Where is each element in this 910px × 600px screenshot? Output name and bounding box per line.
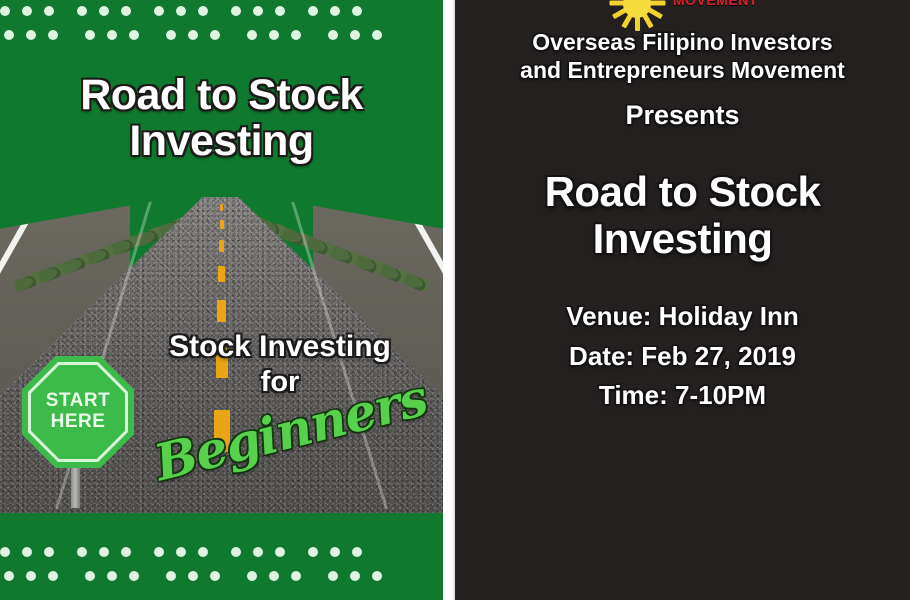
dot-group	[166, 30, 232, 40]
dot	[26, 571, 36, 581]
dot	[22, 547, 32, 557]
left-panel-title: Road to Stock Investing	[0, 72, 443, 165]
logo-wordmark: MOVEMENT	[673, 0, 758, 8]
dot	[48, 571, 58, 581]
event-title: Road to Stock Investing	[463, 168, 902, 262]
dot	[275, 6, 285, 16]
dot-group	[231, 547, 297, 557]
dot	[4, 30, 14, 40]
dot-group	[77, 6, 143, 16]
dot	[291, 30, 301, 40]
event-time: Time: 7-10PM	[463, 376, 902, 416]
dot-row	[0, 545, 443, 559]
dot	[188, 30, 198, 40]
dot	[350, 571, 360, 581]
dot	[99, 547, 109, 557]
center-dash	[217, 300, 226, 322]
dot	[198, 547, 208, 557]
philippine-sun-icon	[607, 0, 667, 24]
dot-group	[231, 6, 297, 16]
center-dash	[218, 266, 225, 282]
dot	[176, 6, 186, 16]
dot-group	[154, 547, 220, 557]
dot-decor-top	[0, 2, 443, 48]
organization-name: Overseas Filipino Investors and Entrepre…	[463, 28, 902, 84]
dot	[275, 547, 285, 557]
dot	[253, 547, 263, 557]
dot	[0, 6, 10, 16]
road-overlay-line-1: Stock Investing	[120, 332, 440, 362]
dot	[231, 547, 241, 557]
dot-group	[328, 30, 394, 40]
org-name-line-2: and Entrepreneurs Movement	[463, 56, 902, 84]
dot	[99, 6, 109, 16]
dot-group	[77, 547, 143, 557]
sign-text-line-2: HERE	[51, 412, 106, 433]
dot	[210, 30, 220, 40]
dot-group	[4, 571, 70, 581]
event-title-line-2: Investing	[463, 215, 902, 262]
dot-group	[154, 6, 220, 16]
dot	[188, 571, 198, 581]
org-name-line-1: Overseas Filipino Investors	[463, 28, 902, 56]
dot-group	[308, 547, 374, 557]
left-title-line-1: Road to Stock	[0, 72, 443, 118]
event-details: Venue: Holiday Inn Date: Feb 27, 2019 Ti…	[463, 297, 902, 416]
sign-text-line-1: START	[46, 391, 110, 412]
dot	[107, 571, 117, 581]
dot	[48, 30, 58, 40]
dot-group	[308, 6, 374, 16]
dot-group	[247, 571, 313, 581]
center-dash	[220, 220, 224, 229]
dot	[22, 6, 32, 16]
dot	[269, 571, 279, 581]
dot	[328, 30, 338, 40]
dot	[77, 6, 87, 16]
dot	[308, 547, 318, 557]
event-title-line-1: Road to Stock	[463, 168, 902, 215]
dot	[85, 30, 95, 40]
dot-row	[0, 569, 443, 583]
dot-group	[328, 571, 394, 581]
dot	[247, 571, 257, 581]
center-dash	[219, 240, 224, 252]
dot	[330, 6, 340, 16]
dot	[121, 547, 131, 557]
start-here-sign: START HERE	[22, 356, 134, 508]
panel-divider	[443, 0, 455, 600]
dot	[0, 547, 10, 557]
organization-logo: MOVEMENT	[455, 0, 910, 24]
dot	[4, 571, 14, 581]
dot-group	[166, 571, 232, 581]
dot	[210, 571, 220, 581]
dot-group	[0, 547, 66, 557]
sign-face: START HERE	[31, 365, 125, 459]
dot-group	[0, 6, 66, 16]
center-dash	[220, 204, 223, 211]
dot	[231, 6, 241, 16]
dot	[85, 571, 95, 581]
dot	[372, 571, 382, 581]
dot	[77, 547, 87, 557]
event-poster: Road to Stock Investing	[0, 0, 910, 600]
dot	[350, 30, 360, 40]
dot	[269, 30, 279, 40]
dot-row	[0, 4, 443, 18]
dot	[154, 547, 164, 557]
right-info-panel: MOVEMENT Overseas Filipino Investors and…	[455, 0, 910, 600]
dot	[352, 547, 362, 557]
left-flyer-panel: Road to Stock Investing	[0, 0, 443, 600]
dot	[26, 30, 36, 40]
dot	[166, 30, 176, 40]
dot	[154, 6, 164, 16]
dot-group	[85, 30, 151, 40]
dot	[129, 30, 139, 40]
dot	[198, 6, 208, 16]
event-venue: Venue: Holiday Inn	[463, 297, 902, 337]
dot-group	[4, 30, 70, 40]
event-date: Date: Feb 27, 2019	[463, 337, 902, 377]
dot-group	[85, 571, 151, 581]
dot	[107, 30, 117, 40]
dot	[328, 571, 338, 581]
presents-label: Presents	[463, 100, 902, 131]
dot	[352, 6, 362, 16]
dot	[176, 547, 186, 557]
dot	[253, 6, 263, 16]
dot	[121, 6, 131, 16]
dot-decor-bottom	[0, 543, 443, 589]
dot	[44, 6, 54, 16]
dot	[308, 6, 318, 16]
dot	[330, 547, 340, 557]
dot	[372, 30, 382, 40]
dot-row	[0, 28, 443, 42]
dot	[129, 571, 139, 581]
dot	[247, 30, 257, 40]
left-title-line-2: Investing	[0, 118, 443, 164]
dot	[44, 547, 54, 557]
dot	[291, 571, 301, 581]
dot-group	[247, 30, 313, 40]
dot	[166, 571, 176, 581]
